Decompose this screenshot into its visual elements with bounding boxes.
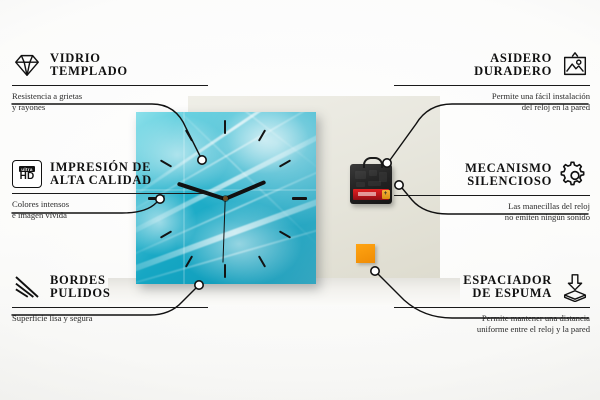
- hd-main-label: HD: [20, 172, 35, 182]
- feature-title: ASIDERO DURADERO: [474, 52, 552, 79]
- hanger-hook: [363, 157, 383, 168]
- feature-description: Colores intensos e imagen vívida: [12, 199, 208, 221]
- battery-label: [358, 192, 376, 196]
- feature-asidero-duradero: ASIDERO DURADERO Permite una fácil insta…: [394, 50, 590, 113]
- feature-description: Permite mantener una distancia uniforme …: [394, 313, 590, 335]
- tick-mark: [224, 120, 226, 134]
- feature-divider: [12, 193, 208, 194]
- tick-mark: [224, 264, 226, 278]
- feature-espaciador-de-espuma: ESPACIADOR DE ESPUMA Permite mantener un…: [394, 272, 590, 335]
- picture-hanger-icon: [560, 50, 590, 80]
- feature-divider: [12, 307, 208, 308]
- feature-description: Permite una fácil instalación del reloj …: [394, 91, 590, 113]
- feature-title: MECANISMO SILENCIOSO: [465, 162, 552, 189]
- feature-description: Las manecillas del reloj no emiten ningú…: [394, 201, 590, 223]
- clock-mechanism-back: +: [350, 164, 392, 204]
- battery-plus-sign: +: [383, 192, 388, 197]
- foam-spacer-arrow-icon: [560, 272, 590, 302]
- feature-divider: [12, 85, 208, 86]
- feature-title: ESPACIADOR DE ESPUMA: [463, 274, 552, 301]
- foam-spacer-sample: [356, 244, 375, 263]
- feature-title: IMPRESIÓN DE ALTA CALIDAD: [50, 161, 152, 188]
- feature-title: BORDES PULIDOS: [50, 274, 110, 301]
- infographic-canvas: +: [0, 0, 600, 400]
- feature-divider: [394, 195, 590, 196]
- feature-description: Resistencia a grietas y rayones: [12, 91, 208, 113]
- feature-impresion-alta-calidad: ultra HD IMPRESIÓN DE ALTA CALIDAD Color…: [12, 160, 208, 221]
- tick-mark: [292, 197, 307, 200]
- feature-mecanismo-silencioso: MECANISMO SILENCIOSO Las manecillas del …: [394, 160, 590, 223]
- feature-bordes-pulidos: BORDES PULIDOS Superficie lisa y segura: [12, 272, 208, 324]
- feature-description: Superficie lisa y segura: [12, 313, 208, 324]
- feature-divider: [394, 85, 590, 86]
- feature-vidrio-templado: VIDRIO TEMPLADO Resistencia a grietas y …: [12, 50, 208, 113]
- feature-title: VIDRIO TEMPLADO: [50, 52, 128, 79]
- feature-divider: [394, 307, 590, 308]
- polished-edges-icon: [12, 272, 42, 302]
- gear-icon: [560, 160, 590, 190]
- diamond-icon: [12, 50, 42, 80]
- ultra-hd-icon: ultra HD: [12, 160, 42, 188]
- battery: +: [353, 189, 389, 200]
- clock-center-pivot: [223, 196, 228, 201]
